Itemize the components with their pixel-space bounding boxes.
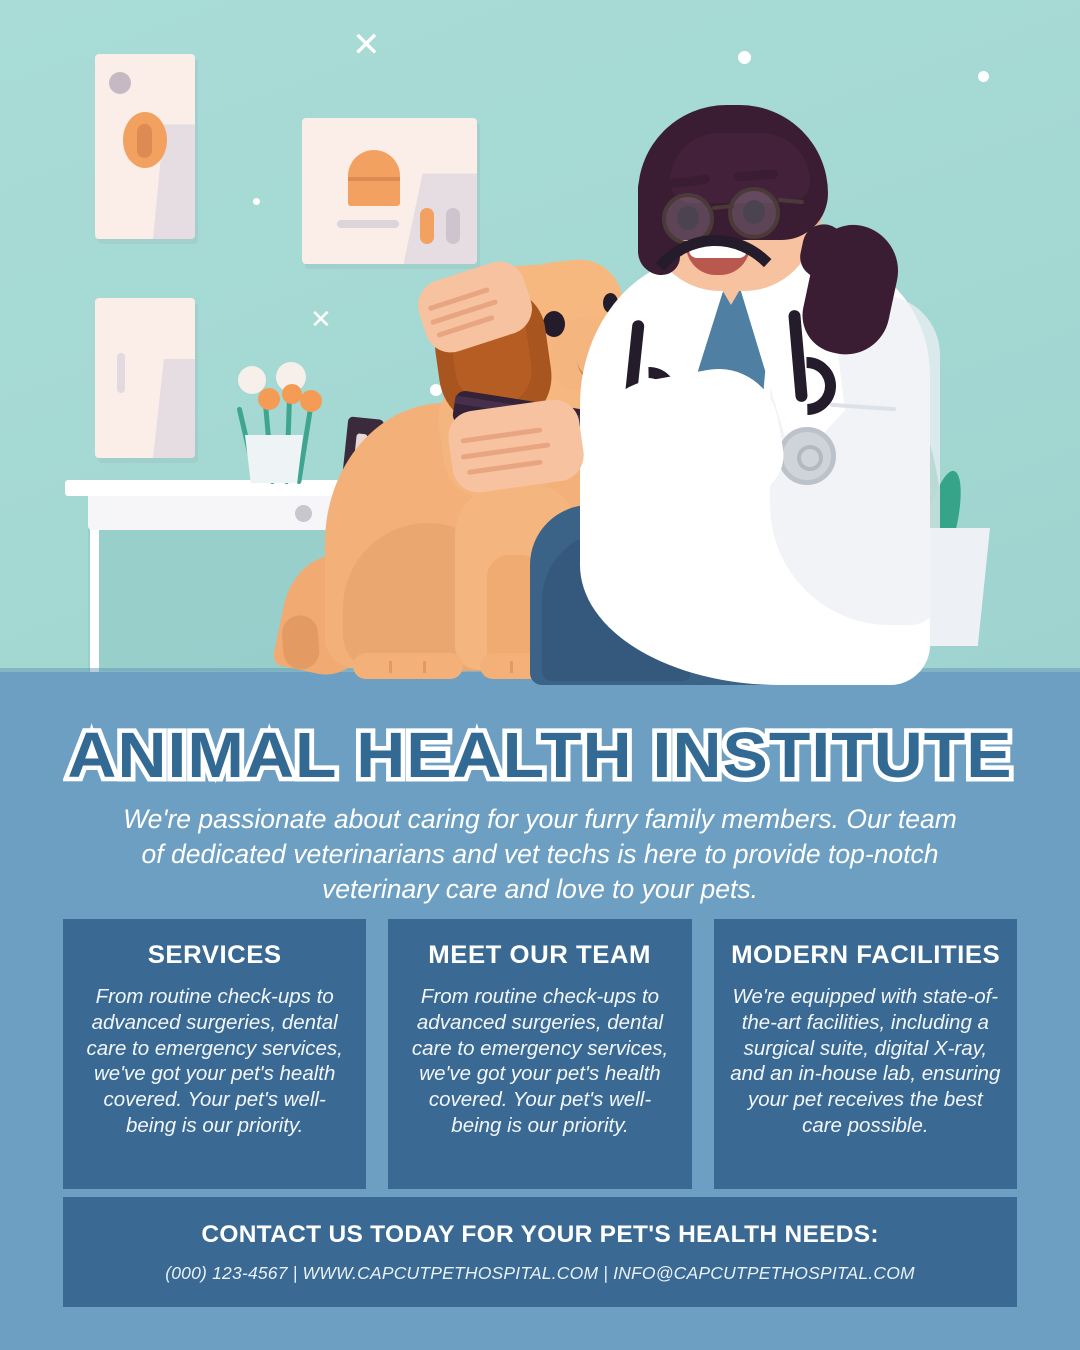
poster-blob-icon [123,112,167,168]
page-title: ANIMAL HEALTH INSTITUTE [0,718,1080,792]
sparkle-dot-icon [978,71,989,82]
card-body: From routine check-ups to advanced surge… [79,984,350,1139]
poster-dot-icon [109,72,131,94]
sparkle-dot-icon [738,51,751,64]
dog-paw [353,653,463,679]
poster-arch-icon [348,150,400,206]
poster-root: ✕ ✕ [0,0,1080,1350]
contact-headline: CONTACT US TODAY FOR YOUR PET'S HEALTH N… [201,1221,878,1249]
contact-details[interactable]: (000) 123-4567 | WWW.CAPCUTPETHOSPITAL.C… [165,1263,915,1284]
card-title: SERVICES [75,941,354,970]
feature-cards: SERVICES From routine check-ups to advan… [63,919,1017,1189]
feature-card-team[interactable]: MEET OUR TEAM From routine check-ups to … [388,919,691,1189]
contact-banner[interactable]: CONTACT US TODAY FOR YOUR PET'S HEALTH N… [63,1197,1017,1307]
glasses-lens-icon [728,187,780,239]
poster-pill-icon [446,208,460,244]
feature-card-services[interactable]: SERVICES From routine check-ups to advan… [63,919,366,1189]
card-body: We're equipped with state-of-the-art fac… [730,984,1001,1139]
poster-shade [153,359,195,458]
wall-poster [95,54,195,239]
veterinarian-illustration [520,105,940,680]
wall-poster [95,298,195,458]
wall-poster [302,118,477,264]
vet-hand [445,396,587,496]
card-body: From routine check-ups to advanced surge… [404,984,675,1139]
poster-bar-icon [337,220,399,228]
sparkle-dot-icon [253,198,260,205]
poster-pill-icon [420,208,434,244]
poster-line-icon [117,353,125,393]
poster-content: ANIMAL HEALTH INSTITUTE We're passionate… [0,700,1080,1350]
feature-card-facilities[interactable]: MODERN FACILITIES We're equipped with st… [714,919,1017,1189]
poster-shade [404,173,478,264]
card-title: MEET OUR TEAM [400,941,679,970]
clinic-illustration: ✕ ✕ [0,0,1080,700]
card-title: MODERN FACILITIES [726,941,1005,970]
sparkle-icon: ✕ [352,28,381,62]
page-subtitle: We're passionate about caring for your f… [110,802,970,907]
